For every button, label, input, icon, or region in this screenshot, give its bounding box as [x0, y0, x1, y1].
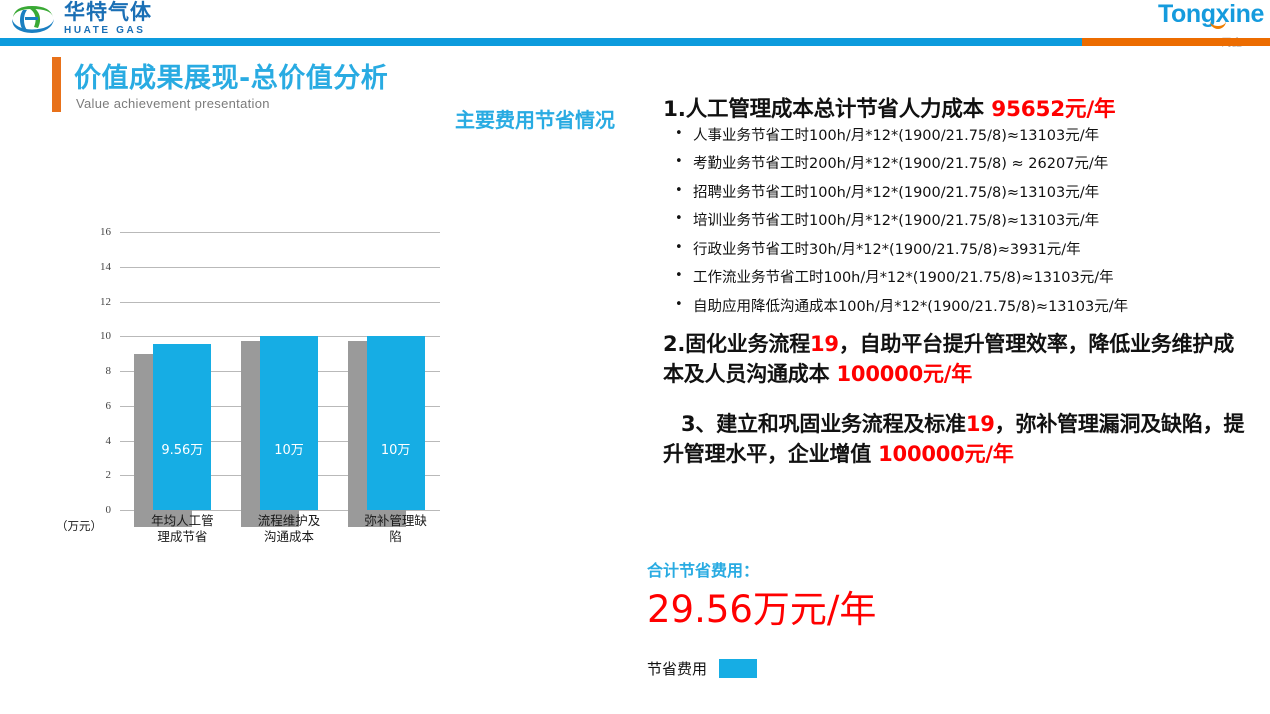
section3-part1: 3、建立和巩固业务流程及标准: [681, 412, 966, 436]
huate-gas-cn-name: 华特气体: [64, 2, 152, 23]
chart-y-tick: 10: [71, 330, 111, 342]
bullet-item: 行政业务节省工时30h/月*12*(1900/21.75/8)≈3931元/年: [663, 243, 1263, 258]
section3-paragraph: 3、建立和巩固业务流程及标准19，弥补管理漏洞及缺陷，提升管理水平，企业增值 1…: [663, 410, 1263, 470]
chart-y-tick: 14: [71, 261, 111, 273]
chart-bar[interactable]: [260, 336, 318, 510]
chart-unit-note: （万元）: [56, 518, 102, 534]
tongxine-wordmark: Tongxine: [1158, 2, 1264, 27]
section1-heading-value: 95652元/年: [991, 97, 1115, 122]
chart-category-line: 理成节省: [131, 529, 233, 545]
section2-highlight2: 100000元/年: [837, 362, 973, 386]
huate-gas-logo-icon: [8, 2, 58, 36]
chart-y-tick: 12: [71, 296, 111, 308]
section1-bullet-list: 人事业务节省工时100h/月*12*(1900/21.75/8)≈13103元/…: [663, 129, 1263, 315]
section2-part1: 2.固化业务流程: [663, 332, 810, 356]
bullet-item: 工作流业务节省工时100h/月*12*(1900/21.75/8)≈13103元…: [663, 271, 1263, 286]
chart-y-tick: 16: [71, 226, 111, 238]
total-savings-value: 29.56万元/年: [647, 591, 876, 628]
section1-heading: 1.人工管理成本总计节省人力成本 95652元/年: [663, 96, 1263, 124]
chart-category-line: 年均人工管: [131, 513, 233, 529]
total-savings-label: 合计节省费用：: [647, 557, 759, 581]
section2-highlight1: 19: [810, 332, 839, 356]
bullet-item: 自助应用降低沟通成本100h/月*12*(1900/21.75/8)≈13103…: [663, 300, 1263, 315]
chart-legend: 节省费用: [647, 658, 757, 679]
section3-highlight1: 19: [966, 412, 995, 436]
chart-bar-value-label: 10万: [355, 439, 437, 458]
section1-heading-text: 1.人工管理成本总计节省人力成本: [663, 97, 991, 122]
header-band-blue: [0, 38, 1082, 46]
chart-y-tick: 0: [71, 504, 111, 516]
chart-category-line: 流程维护及: [238, 513, 340, 529]
chart-bar-value-label: 9.56万: [141, 439, 223, 458]
chart-category-line: 陷: [345, 529, 447, 545]
chart-y-tick: 4: [71, 435, 111, 447]
chart-legend-swatch: [719, 659, 757, 678]
bullet-item: 培训业务节省工时100h/月*12*(1900/21.75/8)≈13103元/…: [663, 214, 1263, 229]
chart-legend-label: 节省费用: [647, 658, 707, 679]
huate-gas-en-name: HUATE GAS: [64, 26, 152, 36]
chart-bar[interactable]: [153, 344, 211, 510]
title-accent-bar: [52, 57, 61, 112]
chart-category-label: 弥补管理缺陷: [345, 513, 447, 544]
chart-y-tick: 6: [71, 400, 111, 412]
savings-bar-chart: 0246810121416 9.56万10万10万: [55, 215, 465, 555]
bullet-item: 人事业务节省工时100h/月*12*(1900/21.75/8)≈13103元/…: [663, 129, 1263, 144]
chart-y-tick: 8: [71, 365, 111, 377]
header-band-orange: [1082, 38, 1270, 46]
bullet-item: 考勤业务节省工时200h/月*12*(1900/21.75/8) ≈ 26207…: [663, 157, 1263, 172]
chart-plot-area: 9.56万10万10万: [120, 215, 440, 555]
analysis-content: 1.人工管理成本总计节省人力成本 95652元/年 人事业务节省工时100h/月…: [663, 96, 1263, 470]
chart-category-line: 沟通成本: [238, 529, 340, 545]
section2-paragraph: 2.固化业务流程19，自助平台提升管理效率，降低业务维护成本及人员沟通成本 10…: [663, 330, 1248, 390]
bullet-item: 招聘业务节省工时100h/月*12*(1900/21.75/8)≈13103元/…: [663, 186, 1263, 201]
chart-y-axis: 0246810121416: [71, 215, 111, 555]
chart-category-label: 流程维护及沟通成本: [238, 513, 340, 544]
page-subtitle: Value achievement presentation: [76, 96, 270, 111]
chart-category-label: 年均人工管理成节省: [131, 513, 233, 544]
huate-gas-logo: 华特气体 HUATE GAS: [8, 1, 178, 37]
page-header: 华特气体 HUATE GAS Tongxine 同鑫eHR: [0, 0, 1270, 48]
huate-gas-wordmark: 华特气体 HUATE GAS: [64, 2, 152, 36]
chart-category-line: 弥补管理缺: [345, 513, 447, 529]
chart-bar[interactable]: [367, 336, 425, 510]
chart-y-tick: 2: [71, 469, 111, 481]
chart-title: 主要费用节省情况: [455, 104, 615, 133]
chart-bar-value-label: 10万: [248, 439, 330, 458]
page-title: 价值成果展现-总价值分析: [74, 56, 388, 95]
section3-highlight2: 100000元/年: [878, 442, 1014, 466]
